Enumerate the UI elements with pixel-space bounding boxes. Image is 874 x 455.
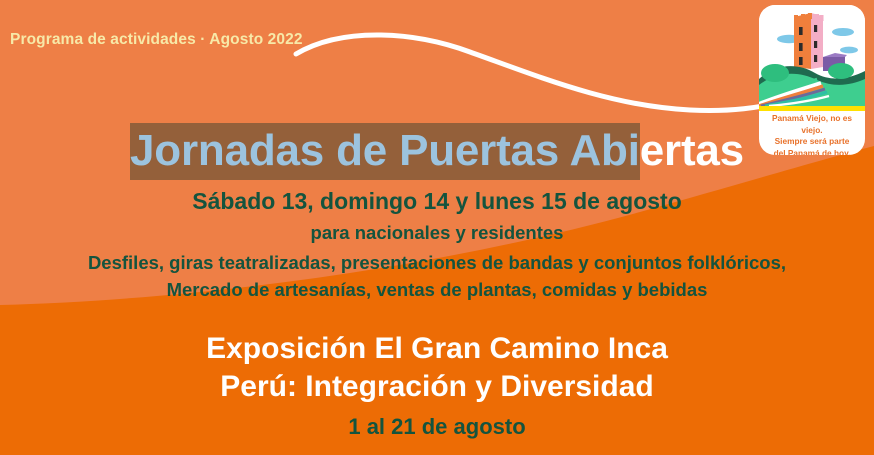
main-title-selected-text[interactable]: Jornadas de Puertas Abi [130,123,640,180]
tower-illustration-icon [759,5,865,106]
poster-canvas: Programa de actividades · Agosto 2022 Jo… [0,0,874,455]
event-activities-line-2: Mercado de artesanías, ventas de plantas… [0,279,874,301]
logo-tagline-line-3: del Panamá de hoy. [762,148,862,155]
exposition-title-line-2: Perú: Integración y Diversidad [0,368,874,406]
logo-tagline: Panamá Viejo, no es viejo. Siempre será … [759,113,865,155]
event-activities-line-1: Desfiles, giras teatralizadas, presentac… [0,252,874,274]
logo-divider-rule [759,106,865,111]
panama-viejo-logo[interactable]: Panamá Viejo, no es viejo. Siempre será … [759,5,865,155]
main-title-text: Jornadas de Puertas Abiertas [130,123,744,180]
exposition-title-line-1: Exposición El Gran Camino Inca [0,330,874,368]
event-audience-line: para nacionales y residentes [0,222,874,244]
logo-tagline-line-1: Panamá Viejo, no es viejo. [762,113,862,136]
exposition-dates: 1 al 21 de agosto [0,414,874,440]
main-title: Jornadas de Puertas Abiertas [0,126,874,176]
event-dates-line: Sábado 13, domingo 14 y lunes 15 de agos… [0,188,874,215]
logo-tagline-line-2: Siempre será parte [762,136,862,148]
main-title-unselected-text: ertas [640,126,744,175]
program-kicker: Programa de actividades · Agosto 2022 [10,31,303,49]
